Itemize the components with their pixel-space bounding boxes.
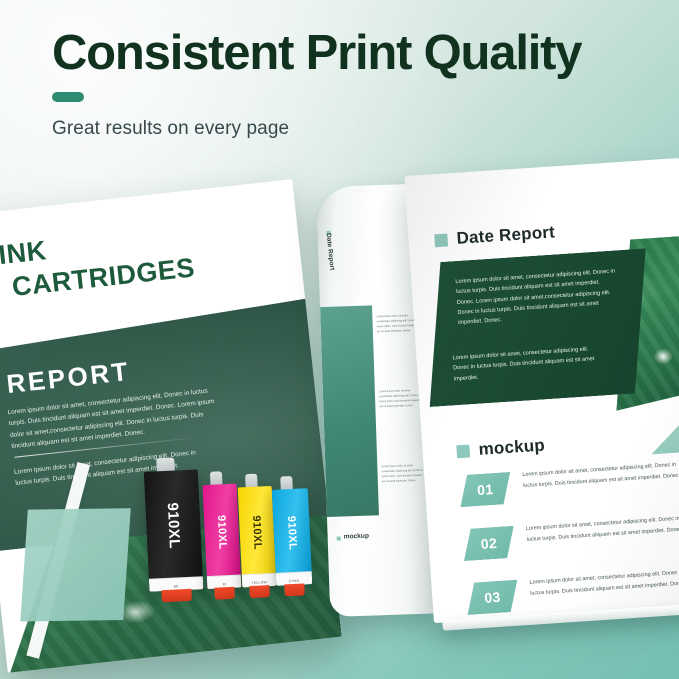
ink-cartridge-magenta: 910XL M — [203, 484, 242, 589]
mockup-number: 02 — [480, 535, 497, 552]
right-brochure-right-page: Date Report Lorem ipsum dolor sit amet, … — [404, 158, 679, 623]
list-item: 01 Lorem ipsum dolor sit amet, consectet… — [458, 458, 679, 519]
section-header-date-report: Date Report — [434, 222, 556, 250]
right-brochure: Date Report Lorem ipsum dolor sit amet, … — [286, 165, 679, 658]
cartridge-model-label: 910XL — [164, 502, 183, 549]
cartridge-clip-icon — [215, 587, 235, 600]
cartridge-model-label: 910XL — [250, 515, 264, 550]
section-title-mockup: mockup — [478, 436, 546, 460]
cartridge-body: 910XL BK — [144, 469, 204, 591]
cartridge-clip-icon — [284, 583, 305, 596]
section-marker-icon — [456, 444, 470, 458]
mockup-number-badge: 01 — [458, 472, 512, 507]
header-block: Consistent Print Quality Great results o… — [52, 28, 652, 140]
accent-dash — [52, 92, 84, 102]
section-marker-icon — [434, 233, 448, 247]
mockup-list: 01 Lorem ipsum dolor sit amet, consectet… — [458, 458, 679, 623]
cartridge-body: 910XL M — [203, 484, 242, 589]
page-subtitle: Great results on every page — [52, 118, 652, 140]
mockup-number-badge: 03 — [465, 580, 519, 615]
left-page-tag-date-report: Date Report — [325, 233, 336, 271]
mockup-number: 01 — [477, 481, 494, 498]
list-item: 02 Lorem ipsum dolor sit amet, consectet… — [462, 512, 679, 573]
left-page-tag-mockup: mockup — [344, 533, 369, 541]
cartridge-model-label: 910XL — [285, 516, 299, 551]
mockup-item-text: Lorem ipsum dolor sit amet, consectetur … — [526, 513, 679, 545]
mockup-number-badge: 02 — [462, 526, 516, 561]
left-brochure-title: INK CARTRIDGES — [0, 212, 253, 304]
left-page-text-block-3: Lorem ipsum dolor sit amet, consectetur … — [381, 464, 426, 485]
section-header-mockup: mockup — [456, 436, 546, 462]
left-page-photo-strip — [320, 305, 379, 517]
cartridge-model-label: 910XL — [215, 515, 229, 550]
cartridge-clip-icon — [161, 589, 192, 602]
section-marker-icon — [337, 537, 341, 541]
left-brochure-title-line1: INK — [0, 235, 48, 270]
cartridge-clip-icon — [250, 585, 270, 598]
date-report-paragraph-1: Lorem ipsum dolor sit amet, consectetur … — [455, 266, 618, 328]
page-title: Consistent Print Quality — [52, 28, 652, 80]
section-title-date-report: Date Report — [456, 222, 556, 248]
poster-canvas: Consistent Print Quality Great results o… — [0, 0, 679, 679]
ink-cartridge-yellow: 910XL YELLOW — [238, 486, 277, 587]
cartridge-body: 910XL YELLOW — [238, 486, 277, 587]
left-brochure-teal-shape — [8, 499, 142, 631]
mockup-item-text: Lorem ipsum dolor sit amet, consectetur … — [529, 567, 679, 599]
mockup-number: 03 — [484, 589, 501, 606]
ink-cartridge-black: 910XL BK — [144, 469, 204, 591]
mockup-item-text: Lorem ipsum dolor sit amet, consectetur … — [522, 459, 679, 491]
ink-cartridge-group: 910XL BK 910XL M 910XL — [138, 434, 320, 592]
left-page-text-block-2: Lorem ipsum dolor sit amet, consectetur … — [379, 389, 424, 410]
